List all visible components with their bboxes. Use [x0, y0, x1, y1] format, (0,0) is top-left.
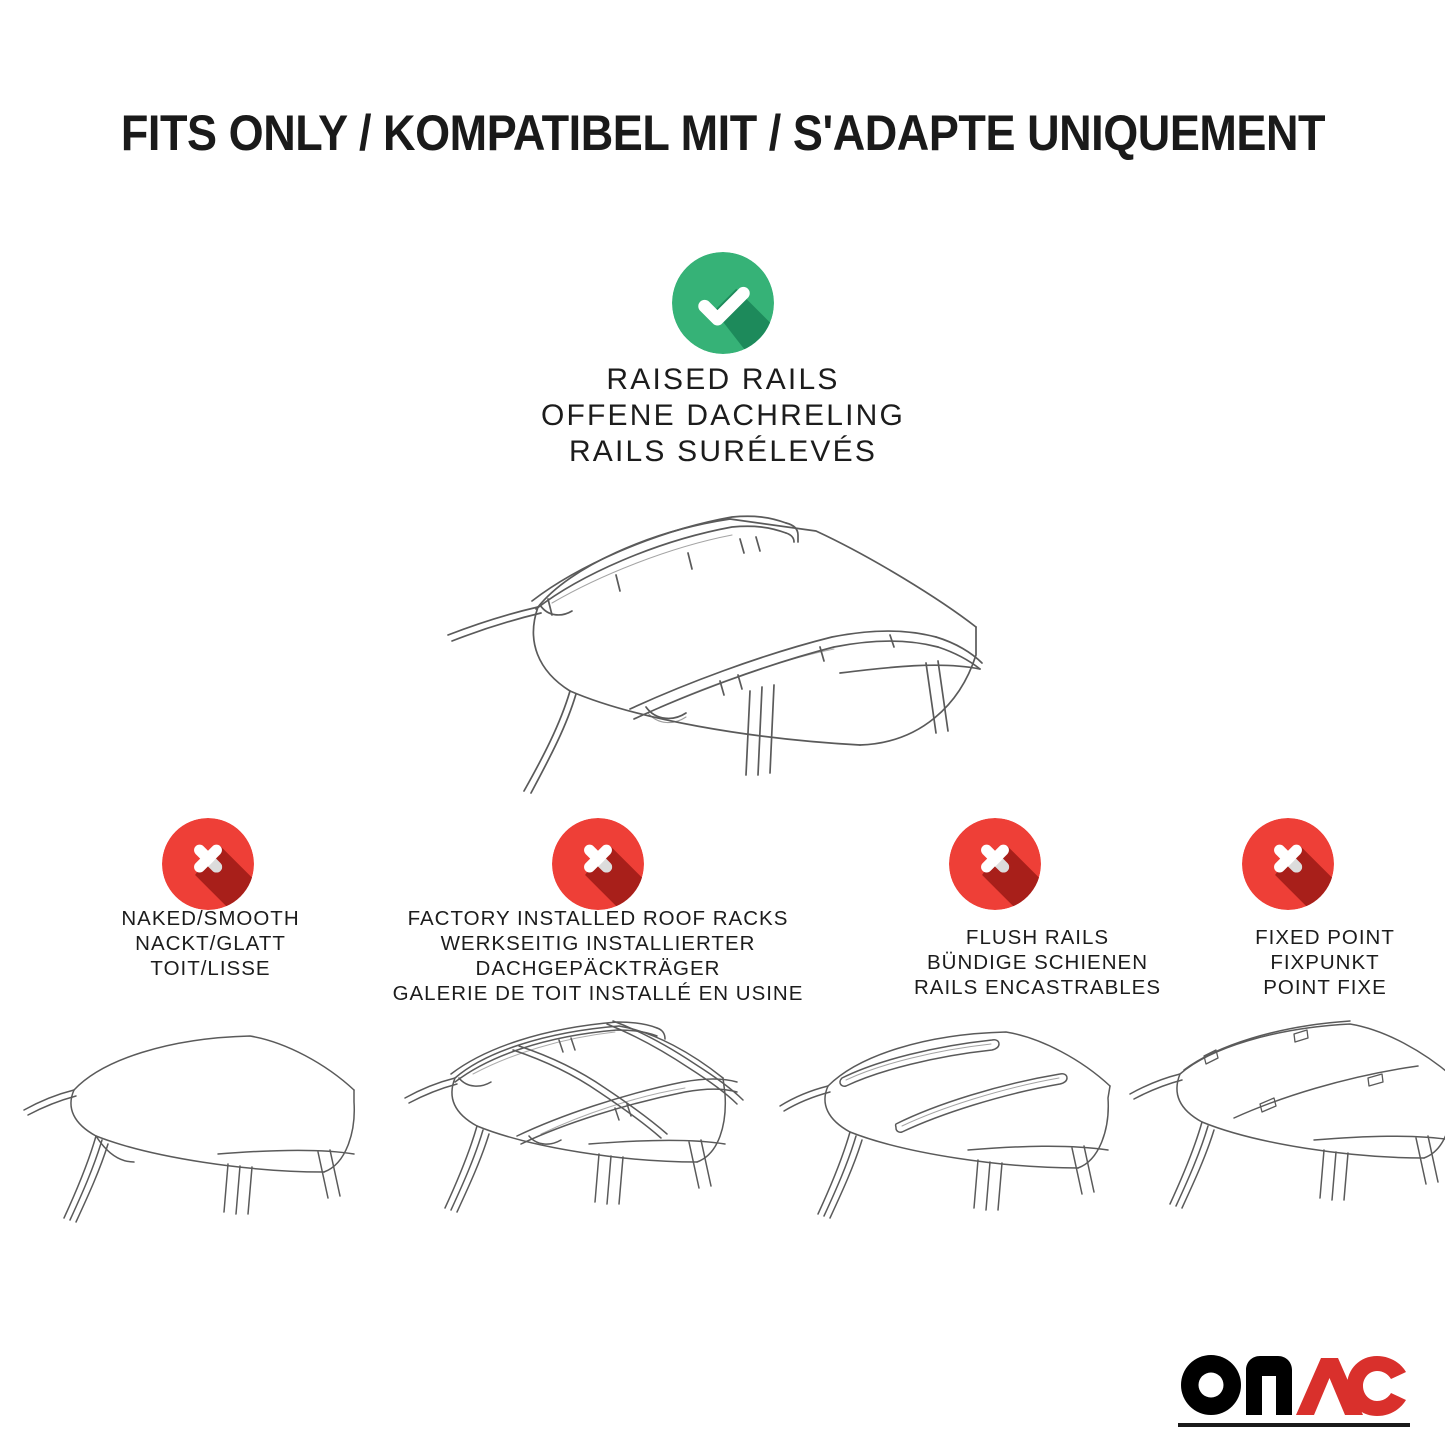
incompatible-caption-line: RAILS ENCASTRABLES — [845, 975, 1230, 1000]
incompatible-caption-line: TOIT/LISSE — [38, 956, 383, 981]
incompatible-caption-line: GALERIE DE TOIT INSTALLÉ EN USINE — [368, 981, 828, 1006]
incompatible-caption-line: POINT FIXE — [1180, 975, 1445, 1000]
car-roof-factory-roof-racks-illustration — [393, 1012, 768, 1252]
car-roof-fixed-point-illustration — [1118, 1012, 1445, 1252]
compatible-caption-line: OFFENE DACHRELING — [423, 398, 1023, 434]
x-circle-icon — [162, 818, 254, 910]
incompatible-caption-naked-smooth: NAKED/SMOOTH NACKT/GLATT TOIT/LISSE — [38, 906, 383, 981]
page-title-text: FITS ONLY / KOMPATIBEL MIT / S'ADAPTE UN… — [120, 104, 1324, 162]
compatible-caption-line: RAISED RAILS — [423, 362, 1023, 398]
x-circle-icon — [552, 818, 644, 910]
compatible-caption-line: RAILS SURÉLEVÉS — [423, 434, 1023, 470]
incompatible-caption-line: NAKED/SMOOTH — [38, 906, 383, 931]
incompatible-caption-fixed-point: FIXED POINT FIXPUNKT POINT FIXE — [1180, 925, 1445, 1000]
incompatible-caption-line: FACTORY INSTALLED ROOF RACKS — [368, 906, 828, 931]
car-roof-naked-smooth-illustration — [18, 1012, 393, 1252]
compatible-caption: RAISED RAILS OFFENE DACHRELING RAILS SUR… — [423, 362, 1023, 470]
page-title: FITS ONLY / KOMPATIBEL MIT / S'ADAPTE UN… — [0, 104, 1445, 162]
incompatible-caption-line: FIXED POINT — [1180, 925, 1445, 950]
incompatible-caption-line: DACHGEPÄCKTRÄGER — [368, 956, 828, 981]
incompatible-caption-flush-rails: FLUSH RAILS BÜNDIGE SCHIENEN RAILS ENCAS… — [845, 925, 1230, 1000]
incompatible-caption-line: FLUSH RAILS — [845, 925, 1230, 950]
incompatible-caption-factory-roof-racks: FACTORY INSTALLED ROOF RACKS WERKSEITIG … — [368, 906, 828, 1006]
incompatible-caption-line: BÜNDIGE SCHIENEN — [845, 950, 1230, 975]
omac-logo — [1178, 1352, 1410, 1430]
incompatible-caption-line: WERKSEITIG INSTALLIERTER — [368, 931, 828, 956]
x-circle-icon — [949, 818, 1041, 910]
incompatible-caption-line: FIXPUNKT — [1180, 950, 1445, 975]
check-circle-icon — [672, 252, 774, 354]
car-roof-raised-rails-illustration — [420, 495, 1030, 795]
incompatible-caption-line: NACKT/GLATT — [38, 931, 383, 956]
car-roof-flush-rails-illustration — [778, 1012, 1153, 1252]
x-circle-icon — [1242, 818, 1334, 910]
